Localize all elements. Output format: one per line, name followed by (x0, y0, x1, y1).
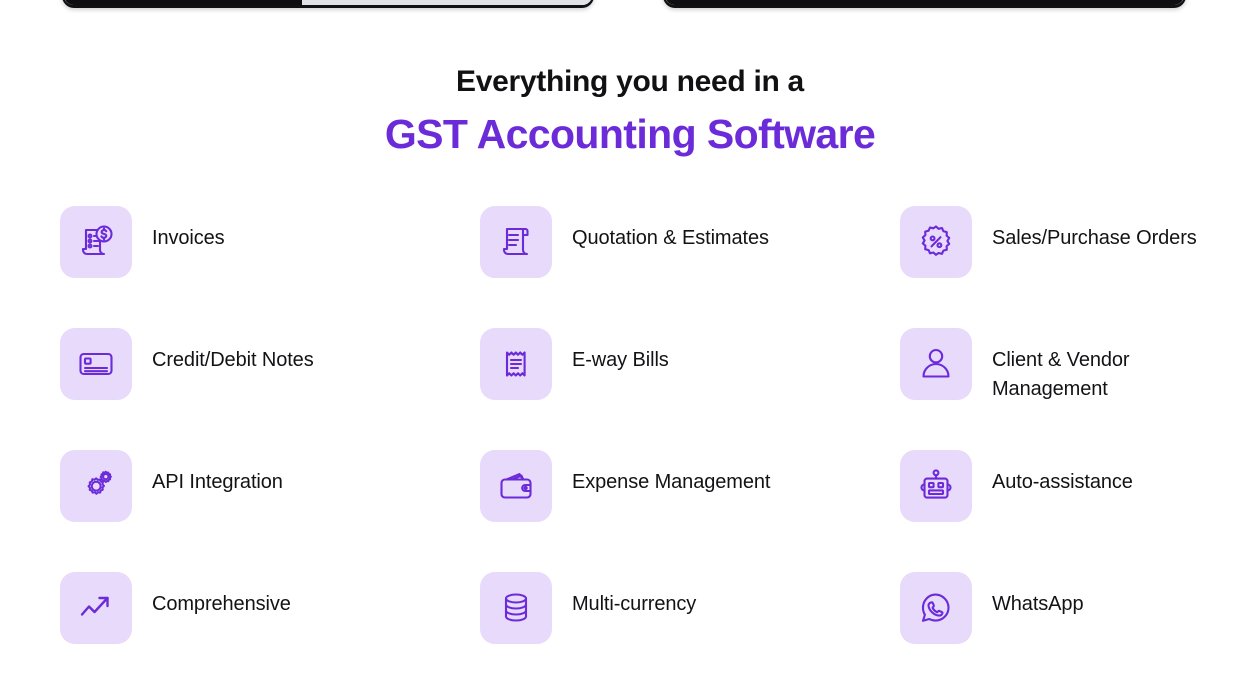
feature-label: Client & Vendor Management (992, 328, 1200, 404)
cropped-card-left-dark-panel (64, 0, 302, 5)
coin-stack-icon (480, 572, 552, 644)
feature-item-comprehensive[interactable]: Comprehensive (60, 572, 480, 694)
feature-label: WhatsApp (992, 572, 1083, 619)
feature-item-api-integration[interactable]: API Integration (60, 450, 480, 572)
feature-item-sales-purchase-orders[interactable]: Sales/Purchase Orders (900, 206, 1200, 328)
feature-label: E-way Bills (572, 328, 669, 375)
feature-item-multi-currency[interactable]: Multi-currency (480, 572, 900, 694)
feature-label: Auto-assistance (992, 450, 1133, 497)
feature-item-client-vendor-management[interactable]: Client & Vendor Management (900, 328, 1200, 450)
section-heading: Everything you need in a GST Accounting … (0, 58, 1260, 162)
top-cropped-cards-strip (0, 0, 1260, 10)
feature-item-expense-management[interactable]: Expense Management (480, 450, 900, 572)
heading-line-1: Everything you need in a (0, 58, 1260, 106)
wallet-icon (480, 450, 552, 522)
payment-card-icon (60, 328, 132, 400)
feature-item-whatsapp[interactable]: WhatsApp (900, 572, 1200, 694)
cropped-card-right-dark-panel (665, 0, 1184, 5)
user-icon (900, 328, 972, 400)
feature-item-invoices[interactable]: Invoices (60, 206, 480, 328)
document-scroll-icon (480, 206, 552, 278)
cropped-card-left-light-panel (302, 0, 592, 5)
whatsapp-circle-icon (900, 572, 972, 644)
feature-item-eway-bills[interactable]: E-way Bills (480, 328, 900, 450)
feature-label: Quotation & Estimates (572, 206, 769, 253)
feature-label: Sales/Purchase Orders (992, 206, 1197, 253)
invoice-dollar-icon (60, 206, 132, 278)
feature-item-quotation-estimates[interactable]: Quotation & Estimates (480, 206, 900, 328)
feature-label: Multi-currency (572, 572, 696, 619)
feature-label: API Integration (152, 450, 283, 497)
cropped-card-left (62, 0, 594, 8)
feature-grid: Invoices Quotation & Estimates Sales/Pur… (60, 206, 1200, 694)
feature-label: Credit/Debit Notes (152, 328, 314, 375)
heading-line-2: GST Accounting Software (0, 106, 1260, 162)
feature-item-auto-assistance[interactable]: Auto-assistance (900, 450, 1200, 572)
feature-label: Expense Management (572, 450, 770, 497)
cropped-card-right (663, 0, 1186, 8)
feature-label: Comprehensive (152, 572, 291, 619)
robot-icon (900, 450, 972, 522)
gears-icon (60, 450, 132, 522)
receipt-icon (480, 328, 552, 400)
feature-label: Invoices (152, 206, 225, 253)
percent-badge-icon (900, 206, 972, 278)
feature-item-credit-debit-notes[interactable]: Credit/Debit Notes (60, 328, 480, 450)
trending-up-icon (60, 572, 132, 644)
